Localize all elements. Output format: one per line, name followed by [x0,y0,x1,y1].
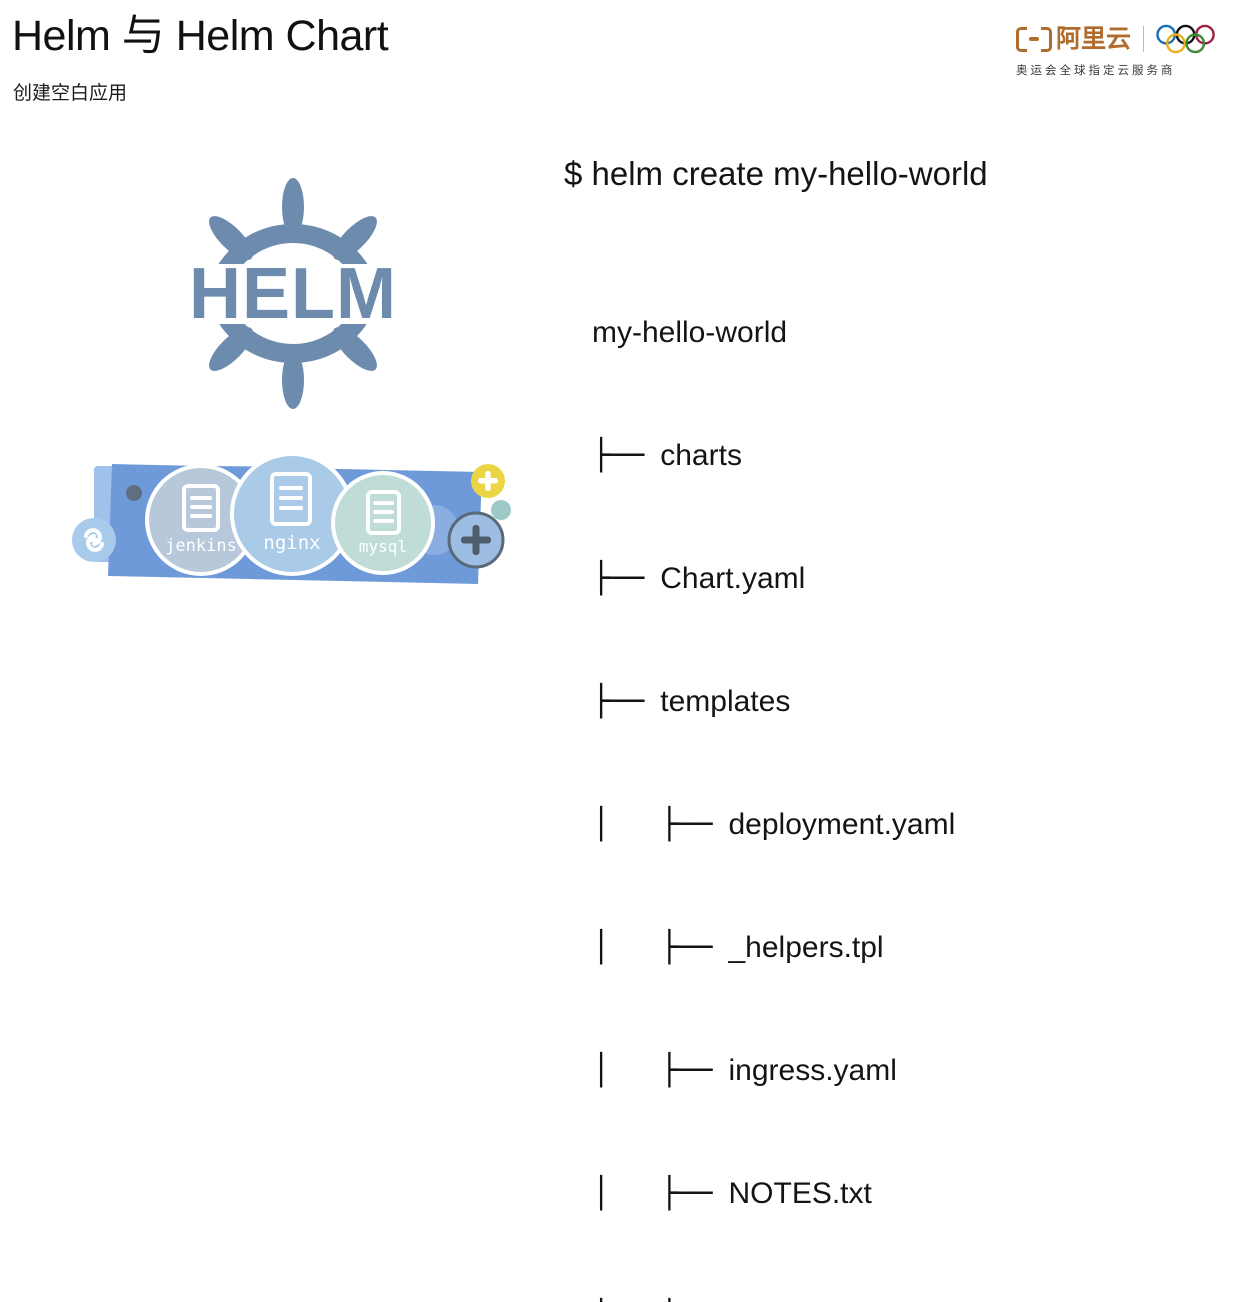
directory-tree: my-hello-world ├── charts ├── Chart.yaml… [592,230,955,1302]
add-badge-icon[interactable] [471,464,505,498]
tree-row: │ ├── NOTES.txt [592,1173,955,1214]
tree-prefix: ├── [592,561,660,596]
tree-label: NOTES.txt [729,1177,872,1210]
tree-prefix: ├── [592,438,660,473]
helm-wordmark: HELM [189,254,397,334]
brand-tagline: 奥运会全球指定云服务商 [1016,62,1228,78]
tree-row: │ ├── deployment.yaml [592,804,955,845]
tree-label: ingress.yaml [729,1054,897,1087]
tree-prefix: │ ├── [592,930,729,965]
brand-divider [1143,26,1144,52]
tree-label: deployment.yaml [729,808,956,841]
app-label-mysql: mysql [359,537,407,556]
tree-label: templates [660,685,790,718]
brand-logo: 阿里云 奥运会全球指定云服务商 [1016,20,1228,82]
page-title: Helm 与 Helm Chart [12,14,388,59]
olympic-rings-icon [1155,24,1219,54]
tree-label: Chart.yaml [660,562,805,595]
page-subtitle: 创建空白应用 [13,78,127,105]
helm-logo: HELM [168,176,418,411]
add-circle-button[interactable] [449,513,503,567]
tree-prefix: │ ├── [592,807,729,842]
terminal-command: $ helm create my-hello-world [564,155,988,193]
tree-row: ├── templates [592,681,955,722]
tree-row: │ ├── _helpers.tpl [592,927,955,968]
tree-row: │ └── service.yaml [592,1296,955,1302]
tree-prefix: │ ├── [592,1176,729,1211]
tree-prefix: ├── [592,684,660,719]
tree-row: my-hello-world [592,312,955,353]
tree-label: service.yaml [729,1300,896,1302]
tree-prefix: │ ├── [592,1053,729,1088]
tree-row: ├── charts [592,435,955,476]
tree-label: _helpers.tpl [729,931,884,964]
app-circle-mysql: mysql [331,471,435,575]
aliyun-wordmark: 阿里云 [1056,27,1131,52]
app-label-jenkins: jenkins [165,536,237,556]
aliyun-dash-icon [1029,37,1039,41]
aliyun-bracket-icon [1016,27,1052,52]
illustration-dot-dark [126,485,142,501]
brand-logo-row: 阿里云 [1016,20,1228,58]
app-label-nginx: nginx [263,532,320,554]
tree-label: charts [660,439,742,472]
apps-illustration: jenkins nginx mysql [64,448,524,598]
tree-row: ├── Chart.yaml [592,558,955,599]
illustration-dot-teal [491,500,511,520]
tree-row: │ ├── ingress.yaml [592,1050,955,1091]
tree-prefix: │ └── [592,1299,729,1302]
link-icon [72,518,116,562]
aliyun-logo: 阿里云 [1016,27,1131,52]
tree-label: my-hello-world [592,316,787,349]
